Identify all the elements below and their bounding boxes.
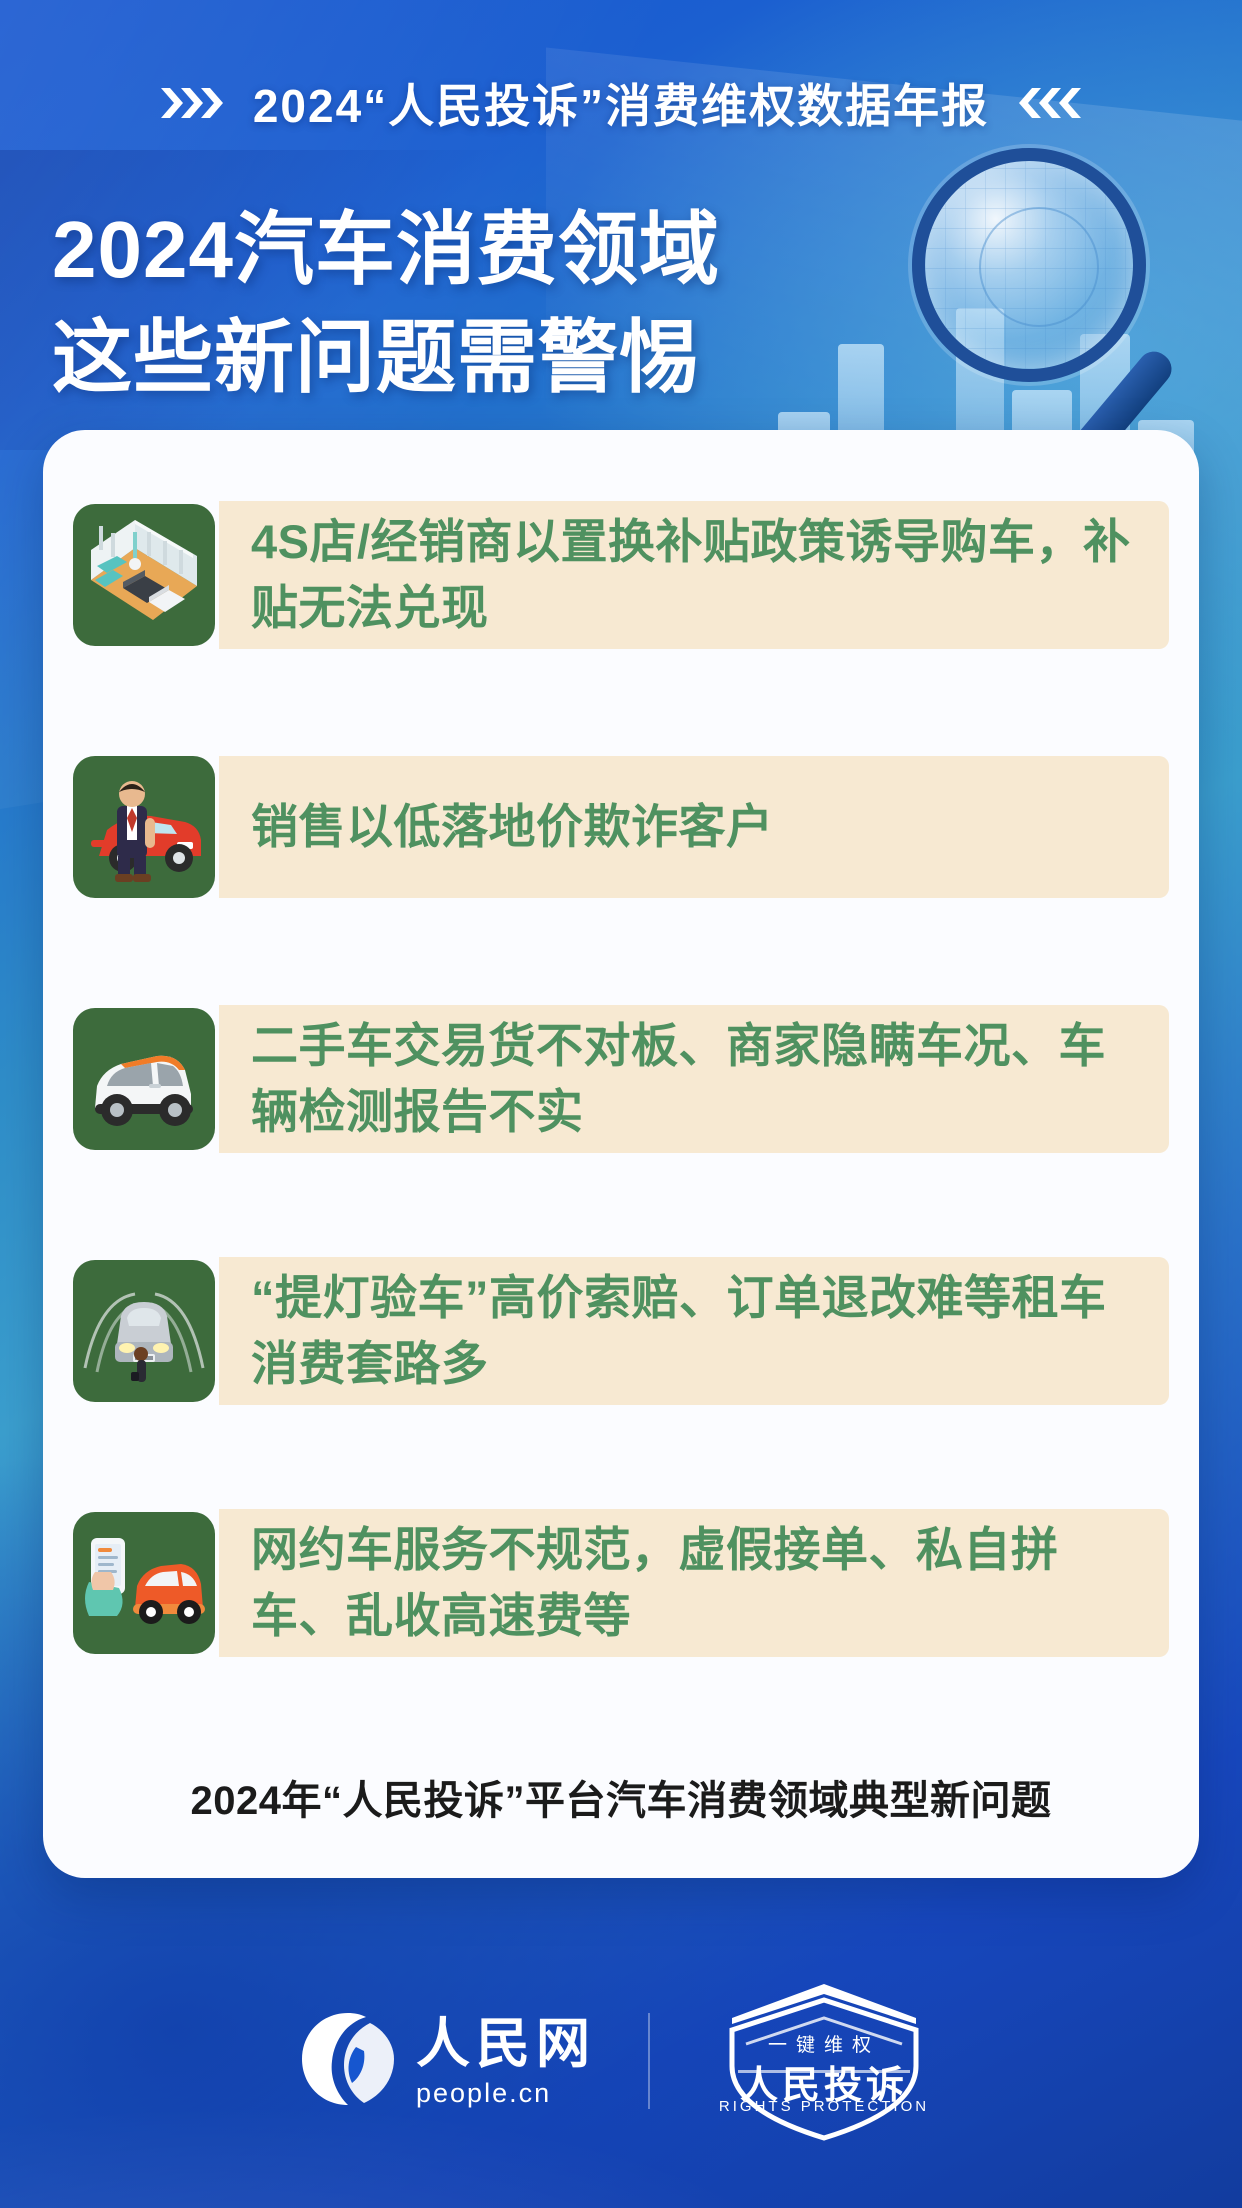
shield-top-text: 一键维权 [702, 2030, 946, 2057]
content-card: 4S店/经销商以置换补贴政策诱导购车，补贴无法兑现 [43, 430, 1199, 1878]
list-item-label: “提灯验车”高价索赔、订单退改难等租车消费套路多 [251, 1265, 1143, 1397]
list-item[interactable]: 4S店/经销商以置换补贴政策诱导购车，补贴无法兑现 [73, 460, 1169, 690]
list-item[interactable]: 网约车服务不规范，虚假接单、私自拼车、乱收高速费等 [73, 1468, 1169, 1698]
list-item[interactable]: “提灯验车”高价索赔、订单退改难等租车消费套路多 [73, 1216, 1169, 1446]
ride-hailing-phone-car-icon [73, 1512, 215, 1654]
list-item[interactable]: 二手车交易货不对板、商家隐瞒车况、车辆检测报告不实 [73, 964, 1169, 1194]
car-headlights-inspection-icon [73, 1260, 215, 1402]
hero-titles: 2024汽车消费领域 这些新问题需警惕 [52, 196, 720, 412]
people-cn-name-cn: 人民网 [416, 2014, 596, 2074]
list-item-text-wrap: “提灯验车”高价索赔、订单退改难等租车消费套路多 [219, 1257, 1169, 1405]
hero-title-line-2: 这些新问题需警惕 [52, 304, 720, 412]
shield-en-text: RIGHTS PROTECTION [702, 2098, 946, 2115]
list-item-label: 二手车交易货不对板、商家隐瞒车况、车辆检测报告不实 [251, 1013, 1143, 1145]
issue-list: 4S店/经销商以置换补贴政策诱导购车，补贴无法兑现 [73, 460, 1169, 1698]
list-item-text-wrap: 网约车服务不规范，虚假接单、私自拼车、乱收高速费等 [219, 1509, 1169, 1657]
list-item-label: 销售以低落地价欺诈客户 [251, 794, 774, 860]
card-caption: 2024年“人民投诉”平台汽车消费领域典型新问题 [43, 1768, 1199, 1826]
footer-divider [648, 2013, 650, 2109]
people-cn-logo[interactable]: 人民网 people.cn [296, 2007, 596, 2116]
magnifier-lens [912, 148, 1146, 382]
list-item-label: 4S店/经销商以置换补贴政策诱导购车，补贴无法兑现 [251, 509, 1143, 641]
chevrons-right-icon [161, 86, 231, 120]
list-item-text-wrap: 销售以低落地价欺诈客户 [219, 756, 1169, 898]
footer-logos: 人民网 people.cn 一键维权 人民投诉 RIGHTS PROTECTIO… [0, 1978, 1242, 2144]
list-item-text-wrap: 4S店/经销商以置换补贴政策诱导购车，补贴无法兑现 [219, 501, 1169, 649]
used-small-car-icon [73, 1008, 215, 1150]
chevrons-left-icon [1011, 86, 1081, 120]
list-item-label: 网约车服务不规范，虚假接单、私自拼车、乱收高速费等 [251, 1517, 1143, 1649]
car-showroom-icon [73, 504, 215, 646]
people-cn-eye-logo-icon [296, 2007, 400, 2116]
salesman-red-sportscar-icon [73, 756, 215, 898]
hero-title-line-1: 2024汽车消费领域 [52, 196, 720, 304]
list-item[interactable]: 销售以低落地价欺诈客户 [73, 712, 1169, 942]
rights-protection-logo[interactable]: 一键维权 人民投诉 RIGHTS PROTECTION [702, 1978, 946, 2144]
people-cn-name-en: people.cn [416, 2078, 551, 2109]
list-item-text-wrap: 二手车交易货不对板、商家隐瞒车况、车辆检测报告不实 [219, 1005, 1169, 1153]
